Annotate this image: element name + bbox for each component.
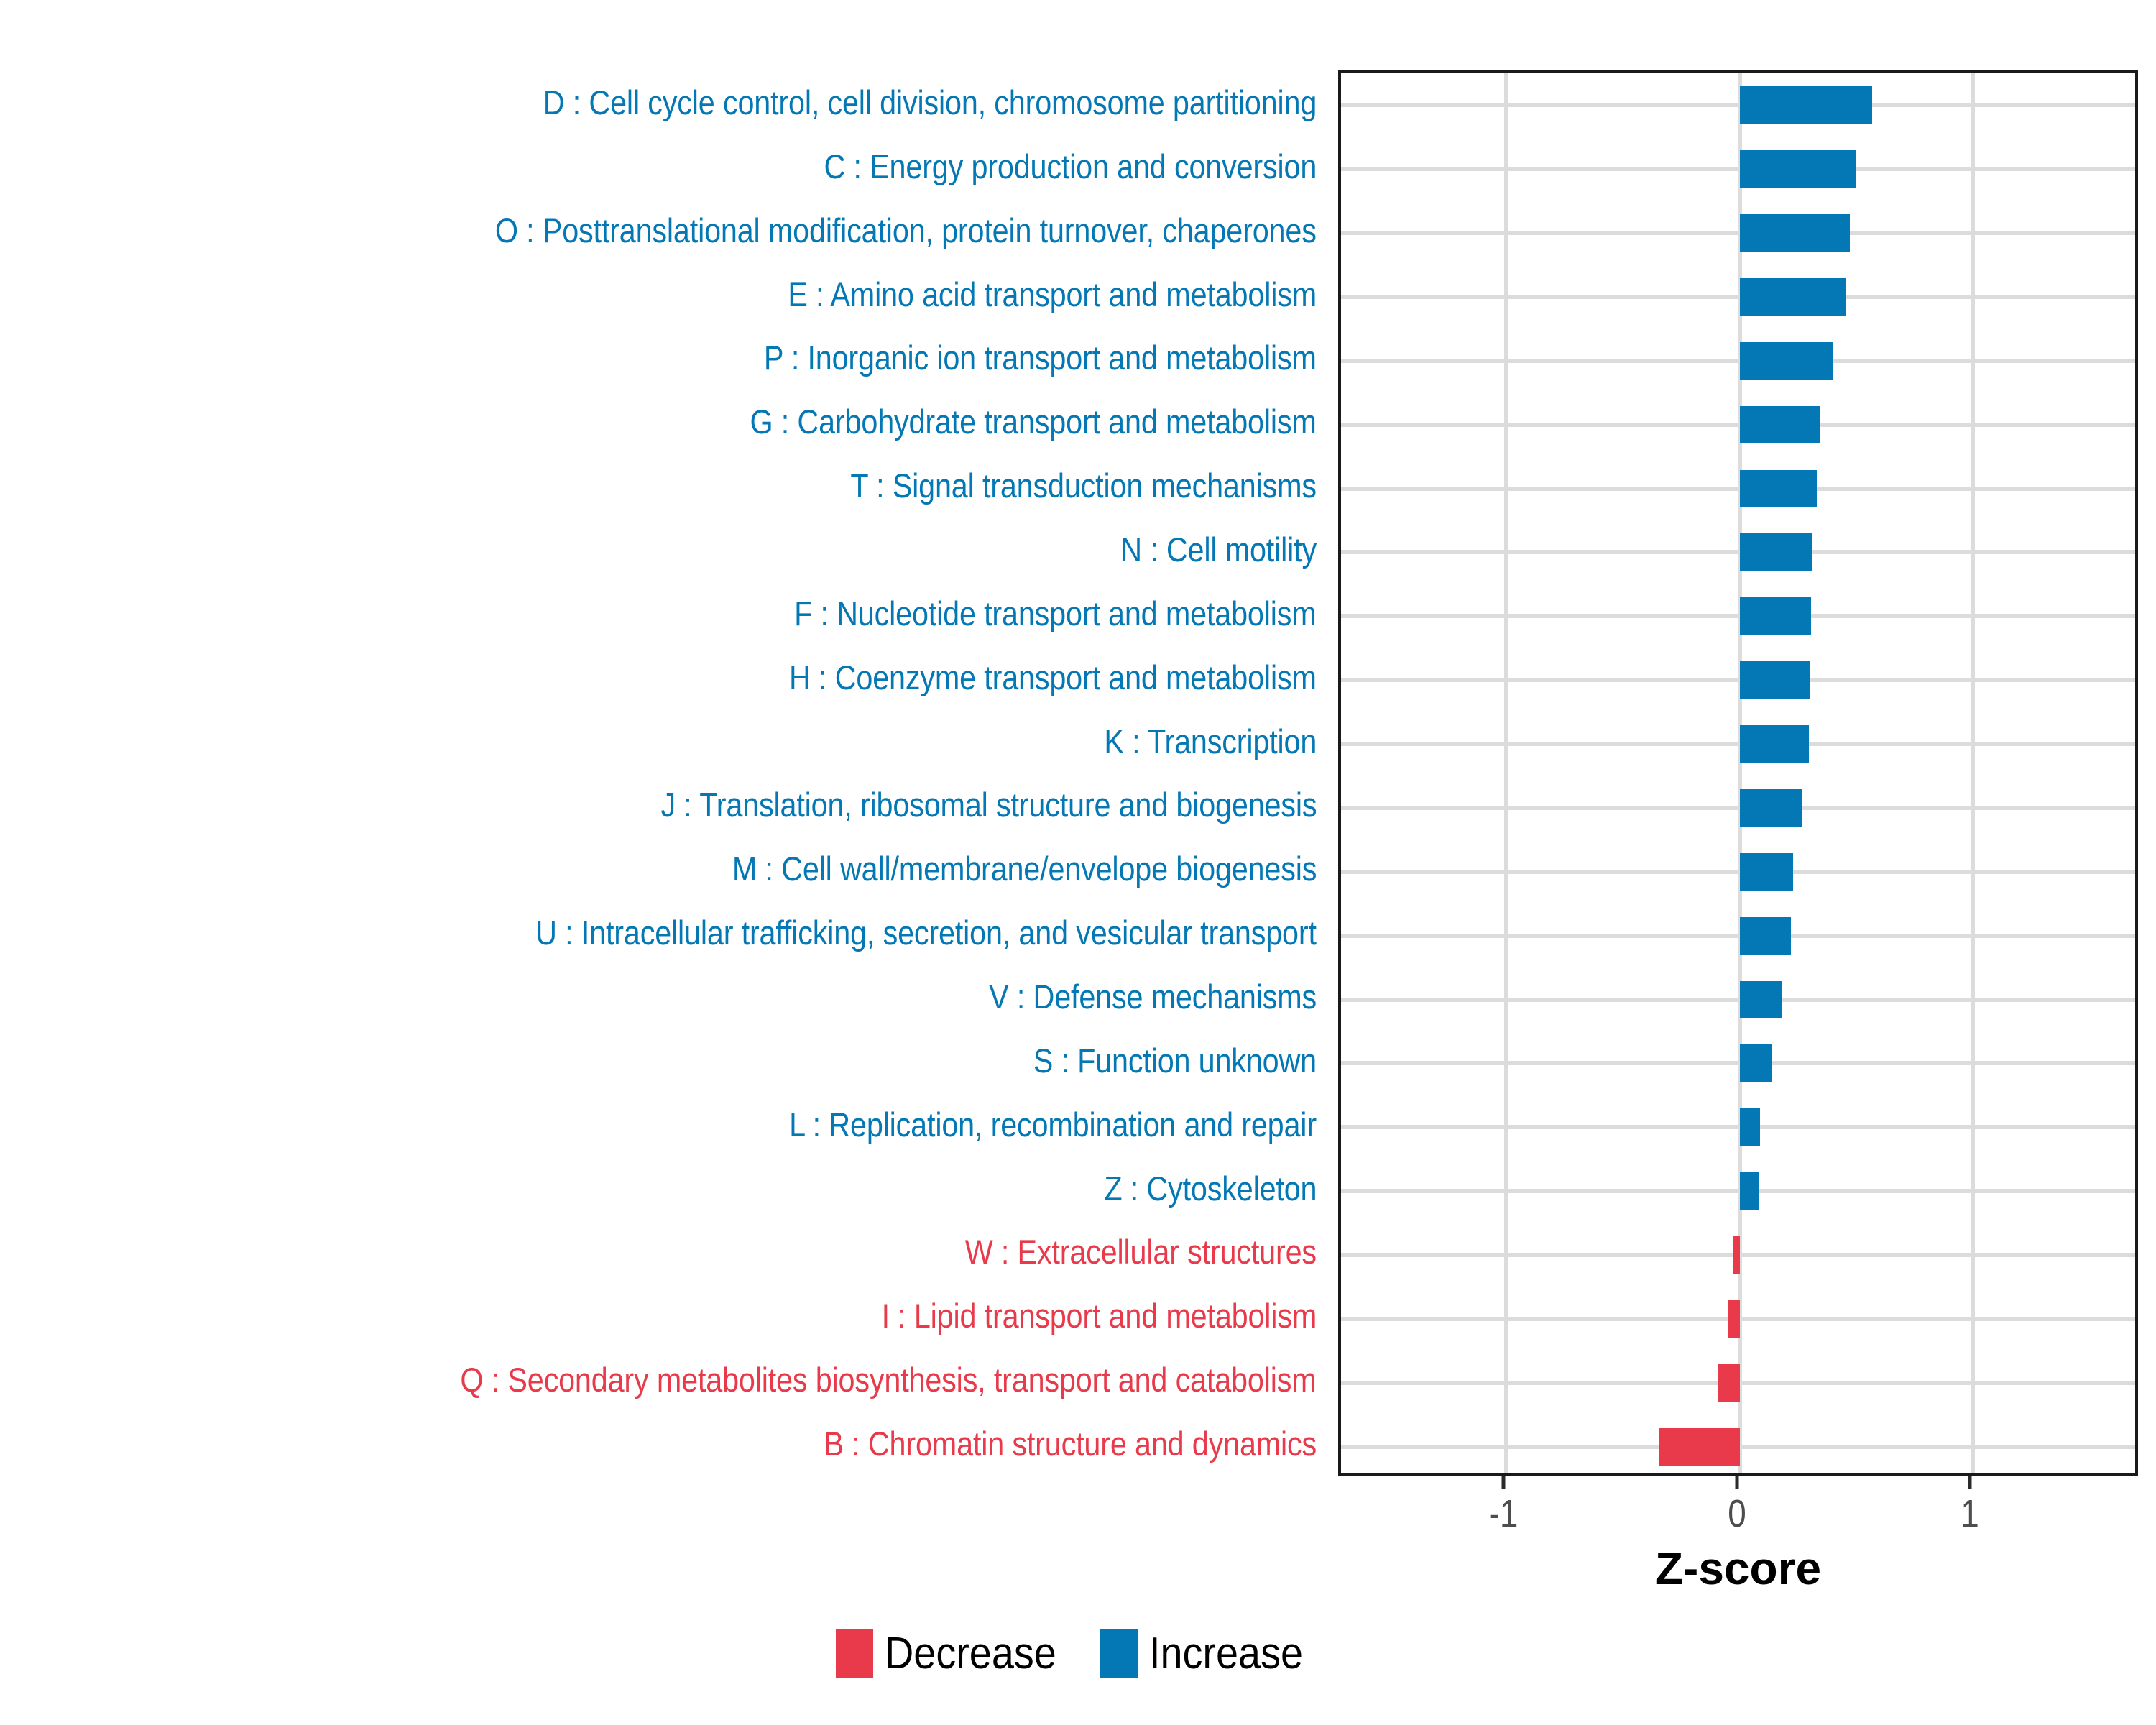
bar bbox=[1740, 470, 1817, 507]
y-axis-tick-label: Z : Cytoskeleton bbox=[1104, 1172, 1317, 1205]
y-axis-tick-label: U : Intracellular trafficking, secretion… bbox=[535, 916, 1317, 949]
y-axis-tick-label-row: S : Function unknown bbox=[0, 1029, 1330, 1092]
plot-panel-inner bbox=[1341, 73, 2135, 1473]
plot-panel bbox=[1338, 70, 2138, 1476]
bar bbox=[1733, 1236, 1740, 1274]
bar bbox=[1740, 86, 1872, 124]
y-axis-tick-label: S : Function unknown bbox=[1033, 1044, 1317, 1077]
y-axis-tick-label: E : Amino acid transport and metabolism bbox=[788, 277, 1317, 311]
horizontal-gridline bbox=[1341, 231, 2135, 235]
y-axis-tick-label: D : Cell cycle control, cell division, c… bbox=[543, 86, 1317, 119]
bar bbox=[1740, 214, 1850, 252]
y-axis-tick-label-row: T : Signal transduction mechanisms bbox=[0, 454, 1330, 517]
vertical-gridline bbox=[1504, 73, 1508, 1473]
y-axis-tick-label-row: N : Cell motility bbox=[0, 517, 1330, 581]
horizontal-gridline bbox=[1341, 934, 2135, 938]
bar bbox=[1740, 533, 1812, 571]
bar bbox=[1740, 981, 1782, 1018]
bar bbox=[1740, 789, 1802, 827]
bar bbox=[1740, 1172, 1759, 1210]
bar bbox=[1740, 661, 1810, 699]
horizontal-gridline bbox=[1341, 614, 2135, 618]
bar bbox=[1740, 597, 1812, 635]
legend-item[interactable]: Increase bbox=[1100, 1628, 1320, 1679]
y-axis-tick-label: C : Energy production and conversion bbox=[824, 149, 1317, 183]
bar bbox=[1740, 725, 1809, 763]
y-axis-tick-label-row: I : Lipid transport and metabolism bbox=[0, 1284, 1330, 1348]
y-axis-tick-label-row: K : Transcription bbox=[0, 709, 1330, 773]
horizontal-gridline bbox=[1341, 1061, 2135, 1065]
bar bbox=[1740, 1108, 1760, 1146]
y-axis-tick-label-row: F : Nucleotide transport and metabolism bbox=[0, 581, 1330, 645]
y-axis-tick-label: P : Inorganic ion transport and metaboli… bbox=[764, 341, 1317, 374]
bar bbox=[1740, 278, 1846, 316]
y-axis-tick-label-row: O : Posttranslational modification, prot… bbox=[0, 198, 1330, 262]
horizontal-gridline bbox=[1341, 295, 2135, 299]
horizontal-gridline bbox=[1341, 870, 2135, 874]
horizontal-gridline bbox=[1341, 423, 2135, 427]
bar bbox=[1740, 853, 1793, 891]
y-axis-tick-label: J : Translation, ribosomal structure and… bbox=[660, 788, 1317, 822]
chart-root: D : Cell cycle control, cell division, c… bbox=[0, 0, 2156, 1725]
y-axis-tick-label-row: B : Chromatin structure and dynamics bbox=[0, 1412, 1330, 1476]
legend-swatch bbox=[836, 1629, 873, 1678]
y-axis-tick-label-row: L : Replication, recombination and repai… bbox=[0, 1092, 1330, 1156]
y-axis-tick-label: T : Signal transduction mechanisms bbox=[851, 469, 1317, 502]
bar bbox=[1740, 1044, 1772, 1082]
y-axis-tick-label: I : Lipid transport and metabolism bbox=[881, 1299, 1317, 1333]
vertical-gridline bbox=[1971, 73, 1975, 1473]
horizontal-gridline bbox=[1341, 103, 2135, 107]
y-axis-tick-label: W : Extracellular structures bbox=[965, 1235, 1317, 1269]
legend-swatch bbox=[1100, 1629, 1138, 1678]
horizontal-gridline bbox=[1341, 998, 2135, 1002]
bar bbox=[1740, 917, 1791, 954]
bar bbox=[1740, 342, 1833, 379]
y-axis-tick-label-row: E : Amino acid transport and metabolism bbox=[0, 262, 1330, 326]
x-axis-title: Z-score bbox=[1338, 1542, 2138, 1595]
horizontal-gridline bbox=[1341, 1125, 2135, 1129]
horizontal-gridline bbox=[1341, 167, 2135, 171]
bar bbox=[1659, 1428, 1740, 1466]
y-axis-tick-label-row: Z : Cytoskeleton bbox=[0, 1156, 1330, 1220]
y-axis-tick-label-row: M : Cell wall/membrane/envelope biogenes… bbox=[0, 837, 1330, 901]
y-axis-tick-label-row: W : Extracellular structures bbox=[0, 1220, 1330, 1284]
y-axis-tick-label: H : Coenzyme transport and metabolism bbox=[789, 661, 1317, 694]
legend-label: Increase bbox=[1149, 1628, 1303, 1679]
bar bbox=[1740, 150, 1856, 188]
horizontal-gridline bbox=[1341, 550, 2135, 554]
y-axis-tick-label-row: G : Carbohydrate transport and metabolis… bbox=[0, 390, 1330, 454]
horizontal-gridline bbox=[1341, 487, 2135, 491]
y-axis-tick-label: N : Cell motility bbox=[1120, 533, 1317, 566]
y-axis-tick-label: B : Chromatin structure and dynamics bbox=[824, 1427, 1317, 1460]
y-axis-tick-label: G : Carbohydrate transport and metabolis… bbox=[750, 405, 1317, 438]
y-axis-tick-label-row: U : Intracellular trafficking, secretion… bbox=[0, 901, 1330, 965]
horizontal-gridline bbox=[1341, 742, 2135, 746]
x-axis-tick-mark bbox=[1968, 1476, 1972, 1489]
y-axis-tick-label: L : Replication, recombination and repai… bbox=[789, 1108, 1317, 1141]
y-axis-tick-label: F : Nucleotide transport and metabolism bbox=[795, 597, 1317, 630]
legend: DecreaseIncrease bbox=[0, 1628, 2156, 1679]
horizontal-gridline bbox=[1341, 359, 2135, 363]
y-axis-tick-label-row: Q : Secondary metabolites biosynthesis, … bbox=[0, 1348, 1330, 1412]
bar bbox=[1740, 406, 1820, 443]
legend-label: Decrease bbox=[885, 1628, 1056, 1679]
x-axis-tick-label: 0 bbox=[1728, 1491, 1746, 1536]
horizontal-gridline bbox=[1341, 806, 2135, 810]
y-axis-tick-label-row: H : Coenzyme transport and metabolism bbox=[0, 645, 1330, 709]
y-axis-tick-label-row: J : Translation, ribosomal structure and… bbox=[0, 773, 1330, 837]
x-axis-tick-mark bbox=[1502, 1476, 1506, 1489]
y-axis-tick-label: M : Cell wall/membrane/envelope biogenes… bbox=[732, 852, 1317, 885]
horizontal-gridline bbox=[1341, 1189, 2135, 1193]
y-axis-tick-label: Q : Secondary metabolites biosynthesis, … bbox=[461, 1363, 1317, 1397]
x-axis-tick-label: -1 bbox=[1489, 1491, 1519, 1536]
y-axis-tick-label-row: P : Inorganic ion transport and metaboli… bbox=[0, 326, 1330, 390]
bar bbox=[1718, 1364, 1740, 1402]
legend-item[interactable]: Decrease bbox=[836, 1628, 1075, 1679]
y-axis-tick-label-row: V : Defense mechanisms bbox=[0, 965, 1330, 1029]
y-axis-tick-label: O : Posttranslational modification, prot… bbox=[495, 213, 1317, 247]
y-axis-tick-label: V : Defense mechanisms bbox=[989, 980, 1317, 1013]
y-axis-label-column: D : Cell cycle control, cell division, c… bbox=[0, 70, 1330, 1476]
y-axis-tick-label-row: C : Energy production and conversion bbox=[0, 134, 1330, 198]
x-axis-tick-mark bbox=[1735, 1476, 1738, 1489]
x-axis-tick-label: 1 bbox=[1961, 1491, 1980, 1536]
y-axis-tick-label-row: D : Cell cycle control, cell division, c… bbox=[0, 70, 1330, 134]
bar bbox=[1728, 1300, 1740, 1338]
y-axis-tick-label: K : Transcription bbox=[1104, 724, 1317, 758]
horizontal-gridline bbox=[1341, 678, 2135, 682]
